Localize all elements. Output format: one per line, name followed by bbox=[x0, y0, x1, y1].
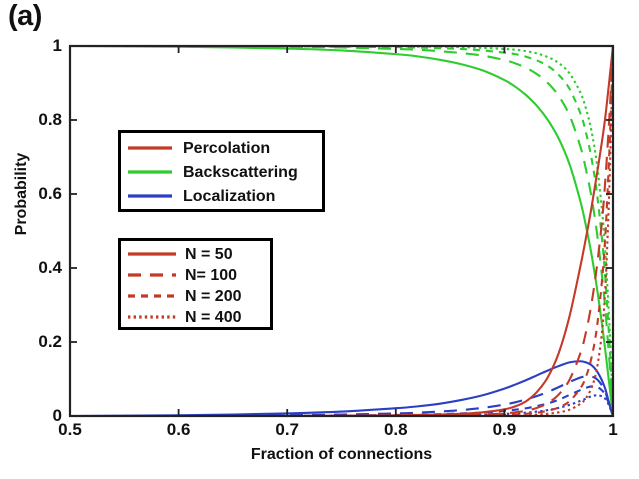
x-tick-label: 0.5 bbox=[30, 420, 110, 440]
legend-item-n-200: N = 200 bbox=[127, 286, 264, 307]
x-tick-label: 0.7 bbox=[247, 420, 327, 440]
legend-label: N= 100 bbox=[185, 268, 237, 284]
legend-label: Localization bbox=[183, 189, 275, 205]
legend-label: N = 400 bbox=[185, 310, 241, 326]
legend-item-backscattering: Backscattering bbox=[127, 161, 314, 185]
legend-swatch-percolation bbox=[127, 142, 173, 156]
plot-canvas bbox=[0, 0, 639, 479]
legend-series: PercolationBackscatteringLocalization bbox=[118, 130, 325, 212]
y-tick-label: 0.6 bbox=[18, 185, 62, 202]
legend-item-n-50: N = 50 bbox=[127, 244, 264, 265]
x-axis-label: Fraction of connections bbox=[70, 446, 613, 464]
legend-label: Backscattering bbox=[183, 165, 298, 181]
legend-swatch-n-100 bbox=[127, 269, 177, 283]
legend-swatch-localization bbox=[127, 190, 173, 204]
figure-panel-a: (a) Probability Fraction of connections … bbox=[0, 0, 639, 479]
y-tick-label: 1 bbox=[18, 37, 62, 54]
y-tick-label: 0.8 bbox=[18, 111, 62, 128]
legend-label: N = 50 bbox=[185, 247, 233, 263]
legend-item-n-400: N = 400 bbox=[127, 307, 264, 328]
x-tick-label: 1 bbox=[573, 420, 639, 440]
x-tick-label: 0.8 bbox=[356, 420, 436, 440]
legend-label: Percolation bbox=[183, 141, 270, 157]
legend-swatch-n-50 bbox=[127, 248, 177, 262]
y-tick-label: 0.2 bbox=[18, 333, 62, 350]
legend-label: N = 200 bbox=[185, 289, 241, 305]
y-tick-label: 0.4 bbox=[18, 259, 62, 276]
legend-swatch-backscattering bbox=[127, 166, 173, 180]
legend-system-sizes: N = 50N= 100N = 200N = 400 bbox=[118, 238, 273, 330]
legend-swatch-n-200 bbox=[127, 290, 177, 304]
x-tick-label: 0.9 bbox=[464, 420, 544, 440]
x-tick-label: 0.6 bbox=[139, 420, 219, 440]
legend-swatch-n-400 bbox=[127, 311, 177, 325]
legend-item-n-100: N= 100 bbox=[127, 265, 264, 286]
legend-item-percolation: Percolation bbox=[127, 137, 314, 161]
legend-item-localization: Localization bbox=[127, 185, 314, 209]
